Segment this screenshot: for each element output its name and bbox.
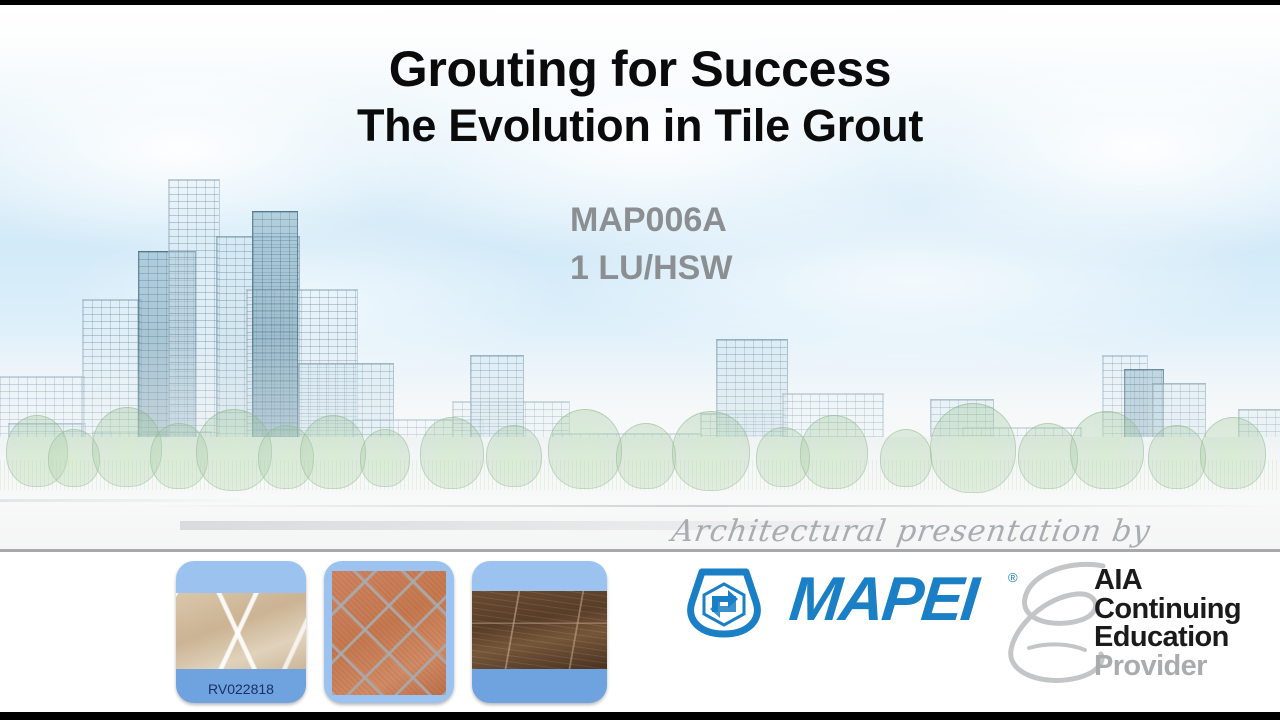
tree-shape (930, 403, 1016, 493)
tree-shape (1070, 411, 1144, 489)
letterbox-bar-bottom (0, 712, 1280, 720)
tile-texture-image (472, 591, 607, 669)
product-thumbnail[interactable]: RV022818 (176, 561, 306, 703)
mapei-flask-emblem-icon (672, 566, 776, 645)
watermark-text: Architectural presentation by (669, 514, 1153, 549)
section-divider (0, 549, 1280, 552)
presentation-slide: Grouting for Success The Evolution in Ti… (0, 0, 1280, 720)
tile-texture-image (176, 593, 306, 673)
tree-shape (300, 415, 366, 489)
tree-shape (880, 429, 932, 487)
aia-label-line2: Continuing (1094, 595, 1241, 624)
tree-shape (360, 429, 410, 487)
aia-provider-badge: AIA Continuing Education Provider (1094, 566, 1241, 681)
thumbnail-label-band (472, 669, 607, 703)
plaza-line (0, 499, 260, 502)
plaza-line (140, 505, 1280, 507)
tree-shape (1148, 425, 1206, 489)
footer-bar: RV022818 (0, 552, 1280, 712)
product-thumbnail[interactable] (472, 561, 607, 703)
aia-label-provider: Provider (1094, 652, 1241, 681)
title-block: Grouting for Success The Evolution in Ti… (0, 42, 1280, 152)
page-subtitle: The Evolution in Tile Grout (0, 100, 1280, 152)
tree-shape (420, 417, 484, 489)
tree-shape (1200, 417, 1266, 489)
aia-label-line3: Education (1094, 623, 1241, 652)
tile-texture-image (332, 571, 446, 695)
course-info-block: MAP006A 1 LU/HSW (0, 196, 1280, 293)
tree-shape (548, 409, 622, 489)
course-code: MAP006A (570, 196, 1280, 244)
product-thumbnail[interactable] (324, 561, 454, 703)
letterbox-bar-top (0, 0, 1280, 5)
course-credit: 1 LU/HSW (570, 244, 1280, 292)
mapei-wordmark: MAPEI (786, 564, 980, 635)
aia-label-line1: AIA (1094, 566, 1241, 595)
tree-shape (486, 425, 542, 487)
tree-shape (616, 423, 676, 489)
tree-shape (1018, 423, 1078, 489)
tree-shape (800, 415, 868, 489)
tree-shape (672, 411, 750, 491)
page-title: Grouting for Success (0, 42, 1280, 96)
revision-code: RV022818 (176, 681, 306, 697)
